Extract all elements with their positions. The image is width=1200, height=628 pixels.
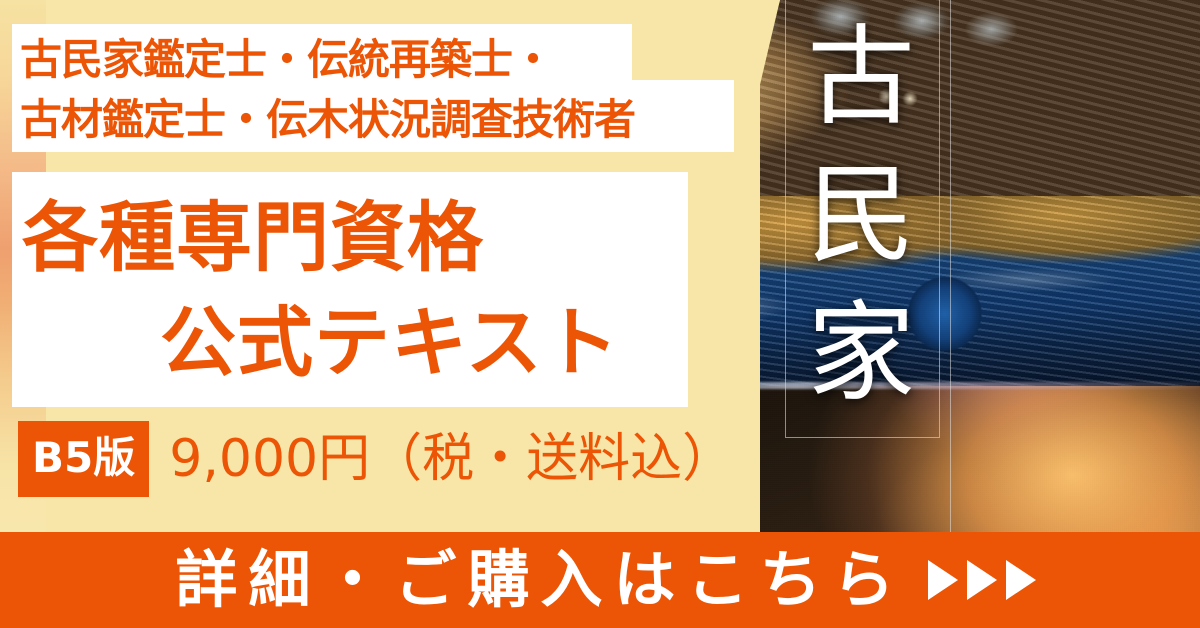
chevron-right-icon — [928, 560, 958, 600]
cover-title: 古 民 家 — [796, 10, 926, 425]
subject-line-2: 公式テキスト — [0, 291, 676, 396]
cta-bar[interactable]: 詳細・ご購入はこちら — [0, 532, 1200, 628]
format-badge: B5版 — [18, 421, 149, 497]
subject-line-1: 各種専門資格 — [0, 186, 676, 291]
headline-line-1: 古民家鑑定士・伝統再築士・ — [20, 30, 732, 90]
cta-arrows — [928, 560, 1036, 600]
cta-label: 詳細・ご購入はこちら — [164, 549, 905, 611]
promo-banner: 古 民 家 伝統構法、古民家活用のための調査と再生の 古民家鑑定士・伝統再築士・… — [0, 0, 1200, 628]
page-title: 古民家鑑定士・伝統再築士・ 古材鑑定士・伝木状況調査技術者 — [20, 30, 732, 149]
subject-heading: 各種専門資格 公式テキスト — [0, 186, 676, 396]
cover-title-char-1: 古 — [796, 10, 926, 148]
chevron-right-icon — [1006, 560, 1036, 600]
chevron-right-icon — [967, 560, 997, 600]
price-label: 9,000円（税・送料込） — [169, 433, 734, 485]
cover-title-char-2: 民 — [796, 148, 926, 286]
price-row: B5版 9,000円（税・送料込） — [18, 422, 734, 496]
headline-line-2: 古材鑑定士・伝木状況調査技術者 — [20, 90, 732, 150]
cover-title-char-3: 家 — [796, 286, 926, 424]
cover-vertical-rule-right — [950, 0, 951, 540]
